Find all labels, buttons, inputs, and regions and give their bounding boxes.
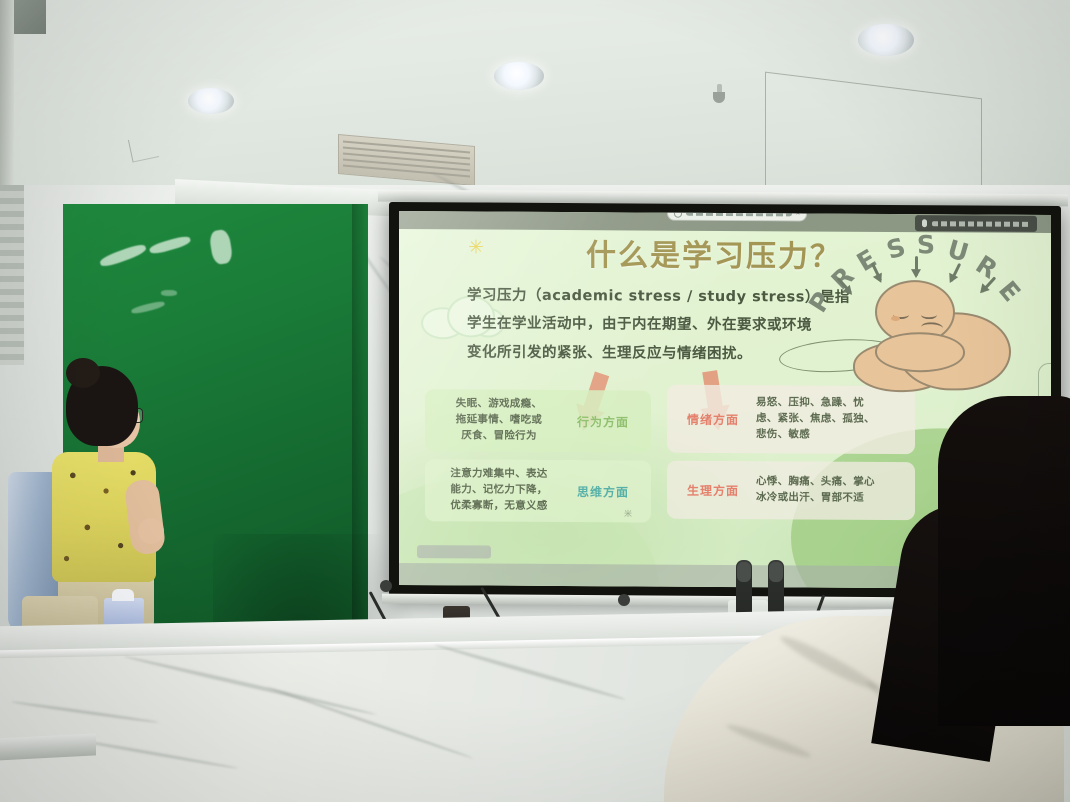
thinking-line-2: 能力、记忆力下降， [434, 482, 564, 499]
ceiling-downlight-right [858, 24, 914, 56]
tiny-asterisk-mark: 米 [624, 508, 632, 519]
thinking-tag: 思维方面 [564, 483, 642, 500]
fire-sprinkler-head [713, 84, 725, 104]
microphone-icon [922, 219, 927, 227]
behavior-line-1: 失眠、游戏成瘾、 [434, 397, 564, 414]
pressure-letter-5: S [916, 230, 935, 260]
presenter-hair-bun [66, 358, 100, 388]
search-icon [674, 211, 682, 217]
notification-pill-text [686, 211, 792, 216]
pressure-illustration: P R E S S U R E [807, 224, 1043, 401]
slide-notification-pill[interactable]: × [667, 211, 807, 221]
gooseneck-mic-capsule-2 [618, 594, 630, 606]
figure-eye-right [921, 310, 937, 319]
sparkle-icon: ✳ [467, 239, 485, 257]
pressure-letter-7: R [971, 250, 1003, 285]
ceiling-left-edge [0, 0, 14, 215]
pressure-letter-1: P [803, 287, 837, 318]
audience-person-foreground [640, 396, 1070, 802]
pressure-letter-4: S [883, 232, 909, 265]
ceiling [0, 0, 1070, 215]
stressed-person-figure [853, 280, 1013, 399]
close-icon[interactable]: × [796, 211, 800, 217]
thinking-line-1: 注意力难集中、表达 [434, 467, 564, 484]
behavior-symptoms: 失眠、游戏成瘾、 拖延事情、嗜吃或 厌食、冒险行为 [434, 397, 564, 445]
status-pill-text [932, 221, 1030, 227]
taskbar-chip[interactable] [417, 545, 491, 558]
pressure-arrow-3 [915, 256, 918, 276]
ceiling-hook [128, 134, 159, 162]
behavior-tag: 行为方面 [564, 413, 642, 430]
audience-hair [938, 396, 1070, 726]
screen-status-pill[interactable] [915, 215, 1037, 232]
behavior-line-2: 拖延事情、嗜吃或 [434, 412, 564, 429]
fact-box-thinking: 注意力难集中、表达 能力、记忆力下降， 优柔寡断，无意义感 思维方面 [425, 459, 651, 522]
wall-louvre-panel [0, 185, 24, 365]
presenter-hand [138, 518, 164, 544]
fact-box-behavior: 失眠、游戏成瘾、 拖延事情、嗜吃或 厌食、冒险行为 行为方面 [425, 389, 651, 452]
ceiling-downlight-center [494, 62, 544, 90]
figure-blush [891, 316, 900, 321]
air-vent-grille [338, 134, 475, 186]
gooseneck-mic-capsule-1 [380, 580, 392, 592]
chalkboard-edge-shadow [352, 204, 368, 624]
presenter-person [36, 352, 186, 632]
thinking-symptoms: 注意力难集中、表达 能力、记忆力下降， 优柔寡断，无意义感 [434, 467, 564, 515]
behavior-line-3: 厌食、冒险行为 [434, 428, 564, 445]
figure-arm [875, 332, 965, 373]
pressure-arrow-4 [950, 263, 961, 282]
classroom-photo-scene: ✳ 什么是学习压力？ 学习压力（academic stress / study … [0, 0, 1070, 802]
thinking-line-3: 优柔寡断，无意义感 [434, 498, 564, 515]
ceiling-downlight-left [188, 88, 234, 114]
